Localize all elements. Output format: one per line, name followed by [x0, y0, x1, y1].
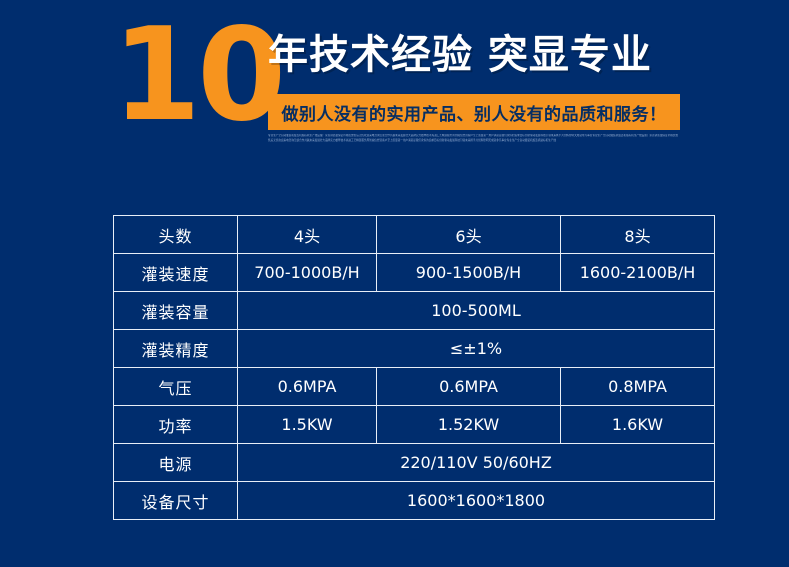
row-value-cell: 900-1500B/H [377, 254, 561, 292]
row-label: 设备尺寸 [114, 482, 238, 520]
headline-text: 年技术经验 突显专业 [268, 28, 652, 82]
row-value-cell: 700-1000B/H [238, 254, 377, 292]
promo-header: 10 年技术经验 突显专业 做别人没有的实用产品、别人没有的品质和服务！ 专业生… [0, 0, 789, 200]
row-value-cell: 8头 [561, 216, 715, 254]
slogan-banner: 做别人没有的实用产品、别人没有的品质和服务！ [268, 94, 680, 130]
table-row: 电源220/110V 50/60HZ [114, 444, 715, 482]
row-label: 灌装速度 [114, 254, 238, 292]
row-value-cell: 0.6MPA [238, 368, 377, 406]
row-value-merged: 100-500ML [238, 292, 715, 330]
row-value-merged: ≤±1% [238, 330, 715, 368]
specification-table: 头数4头6头8头灌装速度700-1000B/H900-1500B/H1600-2… [113, 215, 715, 520]
row-label: 灌装容量 [114, 292, 238, 330]
row-value-cell: 1.5KW [238, 406, 377, 444]
row-label: 气压 [114, 368, 238, 406]
row-value-cell: 6头 [377, 216, 561, 254]
row-label: 灌装精度 [114, 330, 238, 368]
spec-table-container: 头数4头6头8头灌装速度700-1000B/H900-1500B/H1600-2… [113, 215, 710, 511]
slogan-text: 做别人没有的实用产品、别人没有的品质和服务！ [282, 100, 667, 125]
row-value-cell: 1.52KW [377, 406, 561, 444]
row-value-cell: 1600-2100B/H [561, 254, 715, 292]
row-value-cell: 4头 [238, 216, 377, 254]
table-row: 设备尺寸1600*1600*1800 [114, 482, 715, 520]
table-row: 灌装容量100-500ML [114, 292, 715, 330]
years-number: 10 [112, 12, 282, 140]
row-value-merged: 1600*1600*1800 [238, 482, 715, 520]
row-label: 头数 [114, 216, 238, 254]
micro-filler-text: 专业生产全自动灌装机旋盖机贴标机生产线设备厂家直销质量保证价格优惠售后无忧欢迎来… [268, 134, 678, 144]
table-row: 功率1.5KW1.52KW1.6KW [114, 406, 715, 444]
row-value-cell: 0.8MPA [561, 368, 715, 406]
table-row: 灌装精度≤±1% [114, 330, 715, 368]
table-row: 气压0.6MPA0.6MPA0.8MPA [114, 368, 715, 406]
row-label: 功率 [114, 406, 238, 444]
table-row: 头数4头6头8头 [114, 216, 715, 254]
row-value-cell: 1.6KW [561, 406, 715, 444]
table-row: 灌装速度700-1000B/H900-1500B/H1600-2100B/H [114, 254, 715, 292]
row-label: 电源 [114, 444, 238, 482]
row-value-merged: 220/110V 50/60HZ [238, 444, 715, 482]
row-value-cell: 0.6MPA [377, 368, 561, 406]
